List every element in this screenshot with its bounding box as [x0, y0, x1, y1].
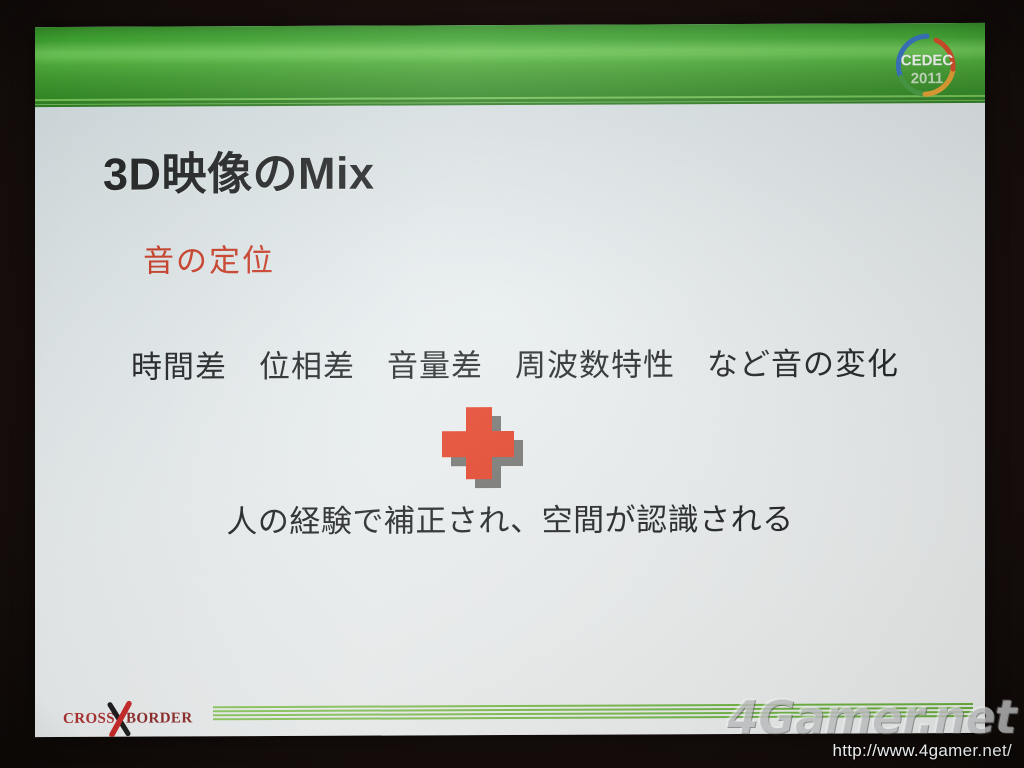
presentation-slide: CEDEC 2011 3D映像のMix 音の定位 時間差 位相差 音量差 周波数… — [35, 23, 985, 737]
4gamer-watermark: 4Gamer.net — [727, 690, 1016, 744]
cedec-logo: CEDEC 2011 — [891, 29, 963, 101]
cross-border-logo: CROSS BORDER — [63, 698, 193, 737]
red-plus-symbol — [440, 405, 530, 495]
photo-of-projected-slide: CEDEC 2011 3D映像のMix 音の定位 時間差 位相差 音量差 周波数… — [0, 0, 1024, 768]
slide-title: 3D映像のMix — [103, 137, 375, 203]
cross-border-word-right: BORDER — [126, 710, 193, 727]
slide-header-band: CEDEC 2011 — [35, 23, 985, 107]
slide-subtitle: 音の定位 — [143, 235, 275, 281]
header-shine — [35, 37, 985, 65]
header-accent-rule-secondary — [35, 100, 985, 105]
cedec-year: 2011 — [911, 70, 944, 87]
cedec-wordmark: CEDEC — [901, 52, 954, 69]
body-line-conclusion: 人の経験で補正され、空間が認識される — [35, 493, 985, 542]
body-line-factors: 時間差 位相差 音量差 周波数特性 など音の変化 — [131, 338, 899, 386]
4gamer-url: http://www.4gamer.net/ — [832, 741, 1012, 761]
plus-mark — [442, 407, 514, 479]
